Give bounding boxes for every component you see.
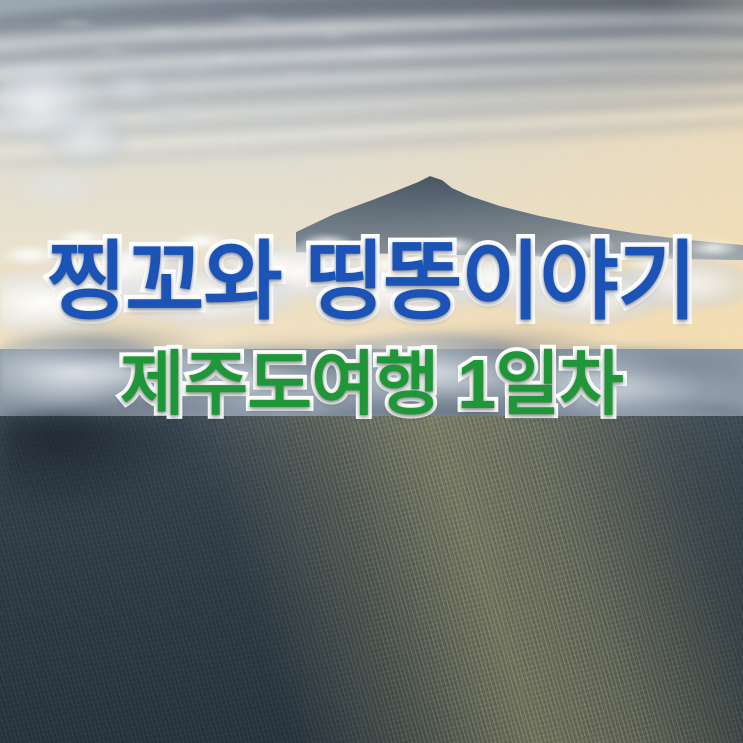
low-wispy-cloud	[0, 0, 327, 223]
low-wispy-cloud	[0, 223, 223, 327]
background-photo	[0, 0, 743, 743]
thumbnail-canvas: 찡꼬와 띵똥이야기 제주도여행 1일차	[0, 0, 743, 743]
ocean-shadow-patch	[0, 416, 743, 639]
low-wispy-cloud	[0, 327, 267, 401]
